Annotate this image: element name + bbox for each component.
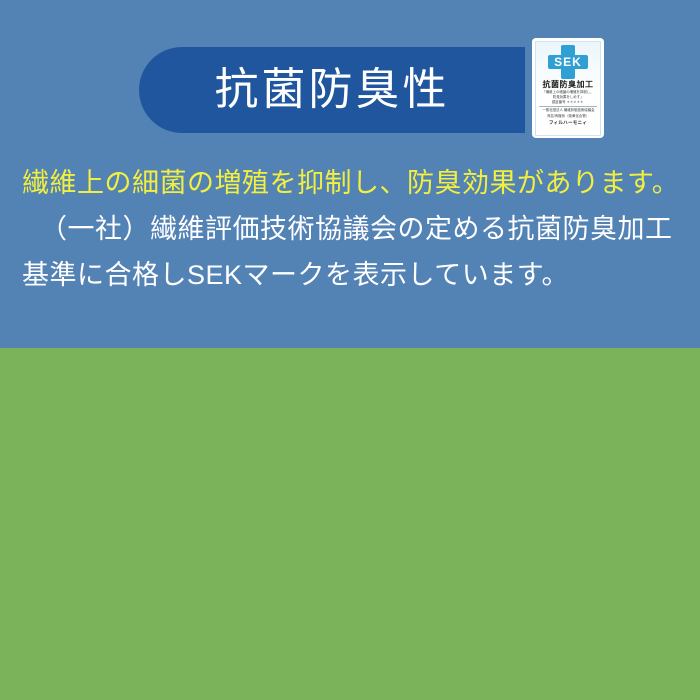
body-copy-antibacterial: 繊維上の細菌の増殖を抑制し、防臭効果があります。 （一社）繊維評価技術協議会の定… xyxy=(0,160,700,298)
heading-pill-antibacterial: 抗菌防臭性 xyxy=(139,47,525,133)
copy-line-1: 繊維上の細菌の増殖を抑制し、防臭効果があります。 xyxy=(22,160,678,206)
sek-detail-line-1: 「繊維上の細菌の増殖を抑制し、 xyxy=(542,90,593,95)
section-anti-mite: 防ダニ性 インテリアファブリックス性能評価協議会の防ダニ 加工増殖抑制効果の認定… xyxy=(0,348,700,700)
sek-detail-line-5: 商名/有機系（硫黄化合物） xyxy=(547,114,589,119)
sek-brand-name: フィルハーモニィ xyxy=(549,120,587,126)
section-antibacterial-deodorant: 抗菌防臭性 SEK 抗菌防臭加工 「繊維上の細菌の増殖を抑制し、 防臭効果をしめ… xyxy=(0,0,700,348)
sek-cross-icon: SEK xyxy=(548,45,588,79)
sek-detail-line-3: 認証番号 ＊＊＊＊＊ xyxy=(552,100,584,105)
sek-logo-text: SEK xyxy=(548,54,588,70)
section-title-antibacterial: 抗菌防臭性 xyxy=(215,68,450,112)
copy-line-3: 基準に合格しSEKマークを表示しています。 xyxy=(22,252,678,298)
sek-certification-mark: SEK 抗菌防臭加工 「繊維上の細菌の増殖を抑制し、 防臭効果をしめす」 認証番… xyxy=(532,38,604,138)
sek-mark-heading: 抗菌防臭加工 xyxy=(543,81,594,90)
copy-line-2: （一社）繊維評価技術協議会の定める抗菌防臭加工 xyxy=(22,206,678,252)
sek-detail-line-4: 一般社団法人 繊維評価技術協議会 xyxy=(542,109,594,114)
sek-mark-inner: SEK 抗菌防臭加工 「繊維上の細菌の増殖を抑制し、 防臭効果をしめす」 認証番… xyxy=(535,41,601,136)
